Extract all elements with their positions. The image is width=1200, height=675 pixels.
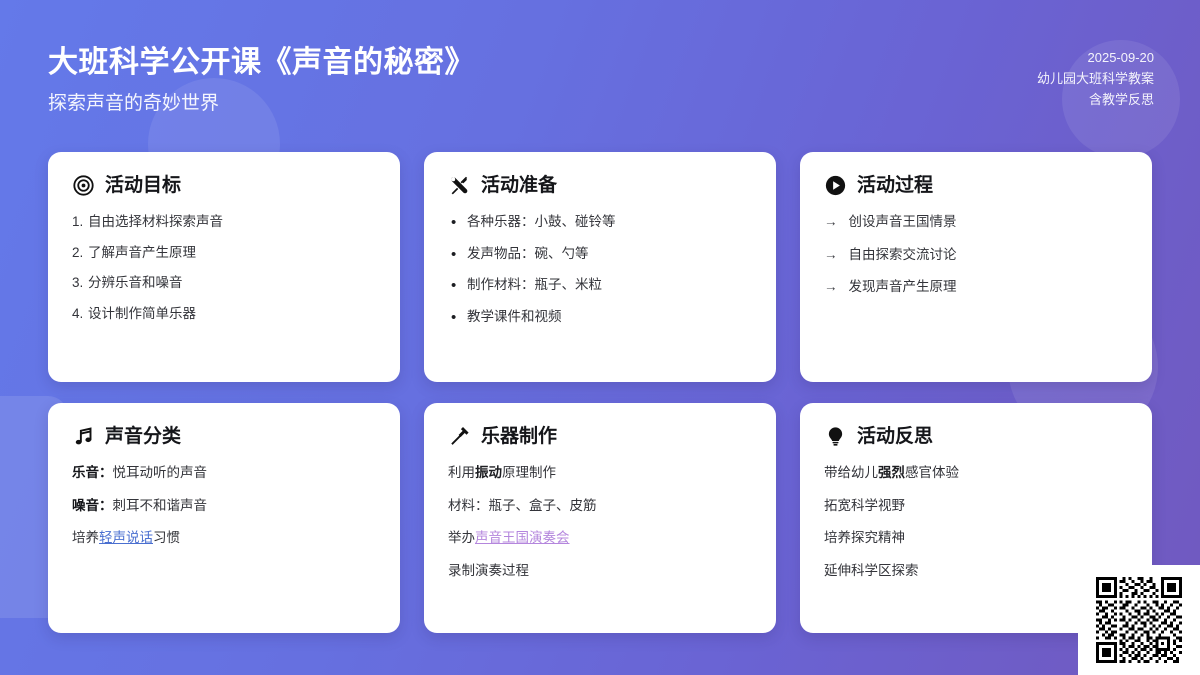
header-meta: 2025-09-20 幼儿园大班科学教案 含教学反思 [1037, 47, 1154, 110]
page-title: 大班科学公开课《声音的秘密》 [48, 44, 475, 82]
line-prefix: 举办 [448, 530, 475, 545]
line-text: 悦耳动听的声音 [113, 465, 208, 480]
card-activity-process: 活动过程 → 创设声音王国情景 → 自由探索交流讨论 → 发现声音产生原理 [800, 152, 1152, 382]
card-title: 活动目标 [105, 176, 181, 195]
line-label: 乐音： [72, 465, 113, 480]
classification-lines: 乐音：悦耳动听的声音 噪音：刺耳不和谐声音 培养轻声说话习惯 [72, 463, 376, 548]
card-header: 活动目标 [72, 174, 376, 196]
page-subtitle: 探索声音的奇妙世界 [48, 92, 475, 117]
card-activity-preparation: 活动准备 各种乐器：小鼓、碰铃等 发声物品：碗、勺等 制作材料：瓶子、米粒 教学… [424, 152, 776, 382]
text-line: 噪音：刺耳不和谐声音 [72, 496, 376, 516]
list-item: 了解声音产生原理 [88, 243, 376, 263]
text-line: 录制演奏过程 [448, 561, 752, 581]
card-header: 声音分类 [72, 425, 376, 447]
slide-header: 大班科学公开课《声音的秘密》 探索声音的奇妙世界 2025-09-20 幼儿园大… [0, 0, 1200, 150]
line-text: 刺耳不和谐声音 [113, 498, 208, 513]
instrument-lines: 利用振动原理制作 材料：瓶子、盒子、皮筋 举办声音王国演奏会 录制演奏过程 [448, 463, 752, 580]
list-item-label: 创设声音王国情景 [849, 212, 957, 232]
list-item: 自由选择材料探索声音 [88, 212, 376, 232]
list-item: 分辨乐音和噪音 [88, 273, 376, 293]
line-prefix: 利用 [448, 465, 475, 480]
play-icon [824, 174, 846, 196]
text-line: 培养轻声说话习惯 [72, 528, 376, 548]
meta-note: 含教学反思 [1037, 89, 1154, 110]
text-line: 材料：瓶子、盒子、皮筋 [448, 496, 752, 516]
list-item-label: 自由探索交流讨论 [849, 245, 957, 265]
list-item: 制作材料：瓶子、米粒 [467, 275, 752, 295]
preparation-list: 各种乐器：小鼓、碰铃等 发声物品：碗、勺等 制作材料：瓶子、米粒 教学课件和视频 [448, 212, 752, 326]
card-grid: 活动目标 自由选择材料探索声音 了解声音产生原理 分辨乐音和噪音 设计制作简单乐… [48, 152, 1152, 633]
card-activity-goals: 活动目标 自由选择材料探索声音 了解声音产生原理 分辨乐音和噪音 设计制作简单乐… [48, 152, 400, 382]
list-item: 发声物品：碗、勺等 [467, 244, 752, 264]
card-title: 活动反思 [857, 427, 933, 446]
line-label: 噪音： [72, 498, 113, 513]
qr-code-icon[interactable] [1096, 577, 1182, 663]
arrow-icon: → [824, 245, 838, 265]
line-prefix: 培养 [72, 530, 99, 545]
line-prefix: 带给幼儿 [824, 465, 878, 480]
meta-category: 幼儿园大班科学教案 [1037, 68, 1154, 89]
music-note-icon [72, 425, 94, 447]
line-suffix: 习惯 [153, 530, 180, 545]
list-item: 设计制作简单乐器 [88, 304, 376, 324]
card-title: 声音分类 [105, 427, 181, 446]
hammer-icon [448, 425, 470, 447]
goal-list: 自由选择材料探索声音 了解声音产生原理 分辨乐音和噪音 设计制作简单乐器 [72, 212, 376, 323]
card-title: 乐器制作 [481, 427, 557, 446]
text-line: 举办声音王国演奏会 [448, 528, 752, 548]
link-soft-speaking[interactable]: 轻声说话 [99, 530, 153, 545]
meta-date: 2025-09-20 [1037, 47, 1154, 68]
text-line: 乐音：悦耳动听的声音 [72, 463, 376, 483]
line-emphasis: 强烈 [878, 465, 905, 480]
tools-icon [448, 174, 470, 196]
list-item: → 创设声音王国情景 [824, 212, 1128, 232]
card-sound-classification: 声音分类 乐音：悦耳动听的声音 噪音：刺耳不和谐声音 培养轻声说话习惯 [48, 403, 400, 633]
reflection-lines: 带给幼儿强烈感官体验 拓宽科学视野 培养探究精神 延伸科学区探索 [824, 463, 1128, 580]
list-item: → 自由探索交流讨论 [824, 245, 1128, 265]
line-emphasis: 振动 [475, 465, 502, 480]
text-line: 培养探究精神 [824, 528, 1128, 548]
card-header: 活动过程 [824, 174, 1128, 196]
list-item: → 发现声音产生原理 [824, 277, 1128, 297]
card-header: 活动准备 [448, 174, 752, 196]
arrow-icon: → [824, 212, 838, 232]
card-header: 乐器制作 [448, 425, 752, 447]
target-icon [72, 174, 94, 196]
text-line: 拓宽科学视野 [824, 496, 1128, 516]
slide-root: 大班科学公开课《声音的秘密》 探索声音的奇妙世界 2025-09-20 幼儿园大… [0, 0, 1200, 675]
list-item: 教学课件和视频 [467, 307, 752, 327]
header-title-block: 大班科学公开课《声音的秘密》 探索声音的奇妙世界 [48, 44, 475, 116]
line-suffix: 原理制作 [502, 465, 556, 480]
line-suffix: 感官体验 [905, 465, 959, 480]
link-sound-kingdom-concert[interactable]: 声音王国演奏会 [475, 530, 570, 545]
process-list: → 创设声音王国情景 → 自由探索交流讨论 → 发现声音产生原理 [824, 212, 1128, 297]
list-item-label: 发现声音产生原理 [849, 277, 957, 297]
lightbulb-icon [824, 425, 846, 447]
text-line: 利用振动原理制作 [448, 463, 752, 483]
list-item: 各种乐器：小鼓、碰铃等 [467, 212, 752, 232]
card-instrument-making: 乐器制作 利用振动原理制作 材料：瓶子、盒子、皮筋 举办声音王国演奏会 录制演奏… [424, 403, 776, 633]
card-header: 活动反思 [824, 425, 1128, 447]
card-title: 活动过程 [857, 176, 933, 195]
qr-code-panel [1078, 565, 1200, 675]
card-title: 活动准备 [481, 176, 557, 195]
arrow-icon: → [824, 277, 838, 297]
text-line: 带给幼儿强烈感官体验 [824, 463, 1128, 483]
